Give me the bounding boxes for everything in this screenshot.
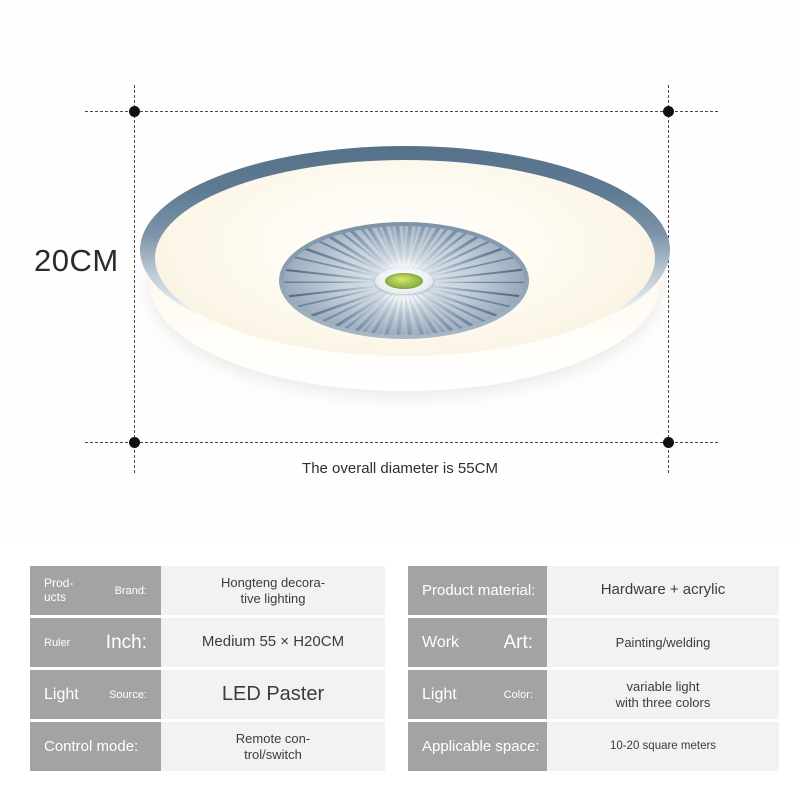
spec-label-secondary: Source: [109, 689, 147, 701]
diameter-dimension-label: The overall diameter is 55CM [0, 460, 800, 477]
spec-label-secondary: Inch: [106, 632, 147, 654]
spec-value-line: variable light [616, 679, 711, 695]
spec-row: WorkArt:Painting/welding [408, 618, 779, 667]
spec-label-primary: Work [422, 634, 459, 652]
spec-table-left: Prod-uctsBrand:Hongteng decora-tive ligh… [30, 566, 385, 771]
spec-value-line: Remote con- [236, 731, 310, 747]
corner-marker-bottom-left [129, 437, 140, 448]
spec-row: Prod-uctsBrand:Hongteng decora-tive ligh… [30, 566, 385, 615]
fan-hub [375, 268, 433, 294]
ceiling-fan-light-illustration [140, 146, 670, 406]
spec-label-primary: Applicable space: [422, 738, 540, 755]
spec-label-cell: RulerInch: [30, 618, 161, 667]
spec-row: Applicable space:10-20 square meters [408, 722, 779, 771]
spec-label-primary: Control mode: [44, 738, 138, 755]
spec-row: LightColor:variable lightwith three colo… [408, 670, 779, 719]
height-dimension-label: 20CM [34, 243, 119, 279]
spec-value-cell: Painting/welding [547, 618, 779, 667]
fan-assembly [279, 222, 529, 339]
spec-value-line: tive lighting [221, 591, 325, 607]
corner-marker-top-left [129, 106, 140, 117]
spec-label-primary: Prod-ucts [44, 577, 73, 605]
spec-value-cell: 10-20 square meters [547, 722, 779, 771]
fan-center-logo [385, 273, 423, 289]
spec-label-primary: Product material: [422, 582, 535, 599]
spec-label-cell: Product material: [408, 566, 547, 615]
spec-value-cell: variable lightwith three colors [547, 670, 779, 719]
spec-label-secondary: Color: [504, 689, 533, 701]
spec-value-line: Hardware + acrylic [601, 581, 726, 599]
spec-row: Control mode:Remote con-trol/switch [30, 722, 385, 771]
spec-label-secondary: Brand: [115, 585, 147, 597]
spec-value-line: trol/switch [236, 747, 310, 763]
spec-label-cell: LightSource: [30, 670, 161, 719]
specification-tables: Prod-uctsBrand:Hongteng decora-tive ligh… [0, 560, 800, 800]
corner-marker-top-right [663, 106, 674, 117]
guide-line-left [134, 85, 135, 473]
spec-value-cell: LED Paster [161, 670, 385, 719]
spec-label-cell: Prod-uctsBrand: [30, 566, 161, 615]
product-dimension-diagram: 20CM The overall diameter is 55CM [0, 0, 800, 540]
spec-value-cell: Medium 55 × H20CM [161, 618, 385, 667]
spec-row: Product material:Hardware + acrylic [408, 566, 779, 615]
spec-value-line: Medium 55 × H20CM [202, 633, 344, 651]
spec-value-cell: Remote con-trol/switch [161, 722, 385, 771]
spec-value-cell: Hardware + acrylic [547, 566, 779, 615]
spec-label-primary: Ruler [44, 637, 70, 649]
spec-value-line: Hongteng decora- [221, 575, 325, 591]
spec-label-secondary: Art: [503, 632, 533, 654]
spec-label-primary: Light [422, 686, 457, 704]
spec-value-line: LED Paster [222, 682, 324, 706]
guide-line-bottom [85, 442, 718, 443]
spec-label-cell: WorkArt: [408, 618, 547, 667]
spec-label-cell: LightColor: [408, 670, 547, 719]
guide-line-top [85, 111, 718, 112]
spec-row: RulerInch:Medium 55 × H20CM [30, 618, 385, 667]
corner-marker-bottom-right [663, 437, 674, 448]
spec-value-line: with three colors [616, 695, 711, 711]
spec-label-cell: Control mode: [30, 722, 161, 771]
spec-value-cell: Hongteng decora-tive lighting [161, 566, 385, 615]
spec-value-line: 10-20 square meters [610, 739, 716, 753]
spec-label-cell: Applicable space: [408, 722, 547, 771]
spec-label-primary: Light [44, 686, 79, 704]
spec-row: LightSource:LED Paster [30, 670, 385, 719]
spec-value-line: Painting/welding [616, 635, 711, 651]
spec-table-right: Product material:Hardware + acrylicWorkA… [408, 566, 779, 771]
